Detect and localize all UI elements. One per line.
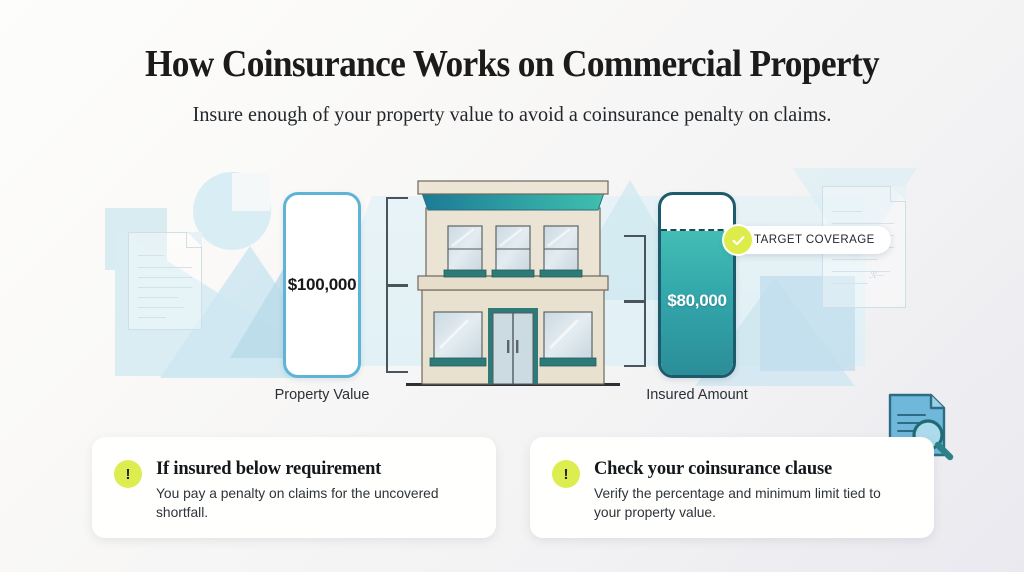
info-card-clause-heading: Check your coinsurance clause [594, 459, 908, 479]
page-subtitle: Insure enough of your property value to … [20, 102, 1003, 127]
target-coverage-badge-label: TARGET COVERAGE [754, 234, 875, 246]
exclamation-icon: ! [552, 460, 580, 488]
page-fold-icon [890, 186, 906, 202]
decor-triangle-c [230, 258, 290, 358]
property-value-label: $100,000 [286, 275, 358, 295]
commercial-building-illustration [404, 180, 622, 388]
info-card-penalty[interactable]: ! If insured below requirement You pay a… [92, 437, 496, 538]
info-card-penalty-body: You pay a penalty on claims for the unco… [156, 485, 470, 522]
property-value-caption: Property Value [222, 387, 422, 403]
property-value-bar[interactable]: $100,000 [283, 192, 361, 378]
info-card-clause[interactable]: ! Check your coinsurance clause Verify t… [530, 437, 934, 538]
check-circle-icon [722, 224, 754, 256]
exclamation-icon: ! [114, 460, 142, 488]
decor-document-outline-left [128, 232, 202, 330]
page-fold-icon [186, 232, 202, 248]
insured-amount-bar[interactable]: $80,000 [658, 192, 736, 378]
bracket-insured-amount [612, 235, 660, 367]
insured-amount-label: $80,000 [661, 291, 733, 311]
info-card-penalty-heading: If insured below requirement [156, 459, 470, 479]
page-title: How Coinsurance Works on Commercial Prop… [36, 42, 988, 86]
decor-pie-notch [232, 173, 270, 211]
header: How Coinsurance Works on Commercial Prop… [0, 42, 1024, 127]
insured-amount-caption: Insured Amount [597, 387, 797, 403]
signature-mark-icon: ℛ— [869, 270, 884, 281]
target-coverage-line [661, 229, 733, 231]
info-card-clause-body: Verify the percentage and minimum limit … [594, 485, 908, 522]
